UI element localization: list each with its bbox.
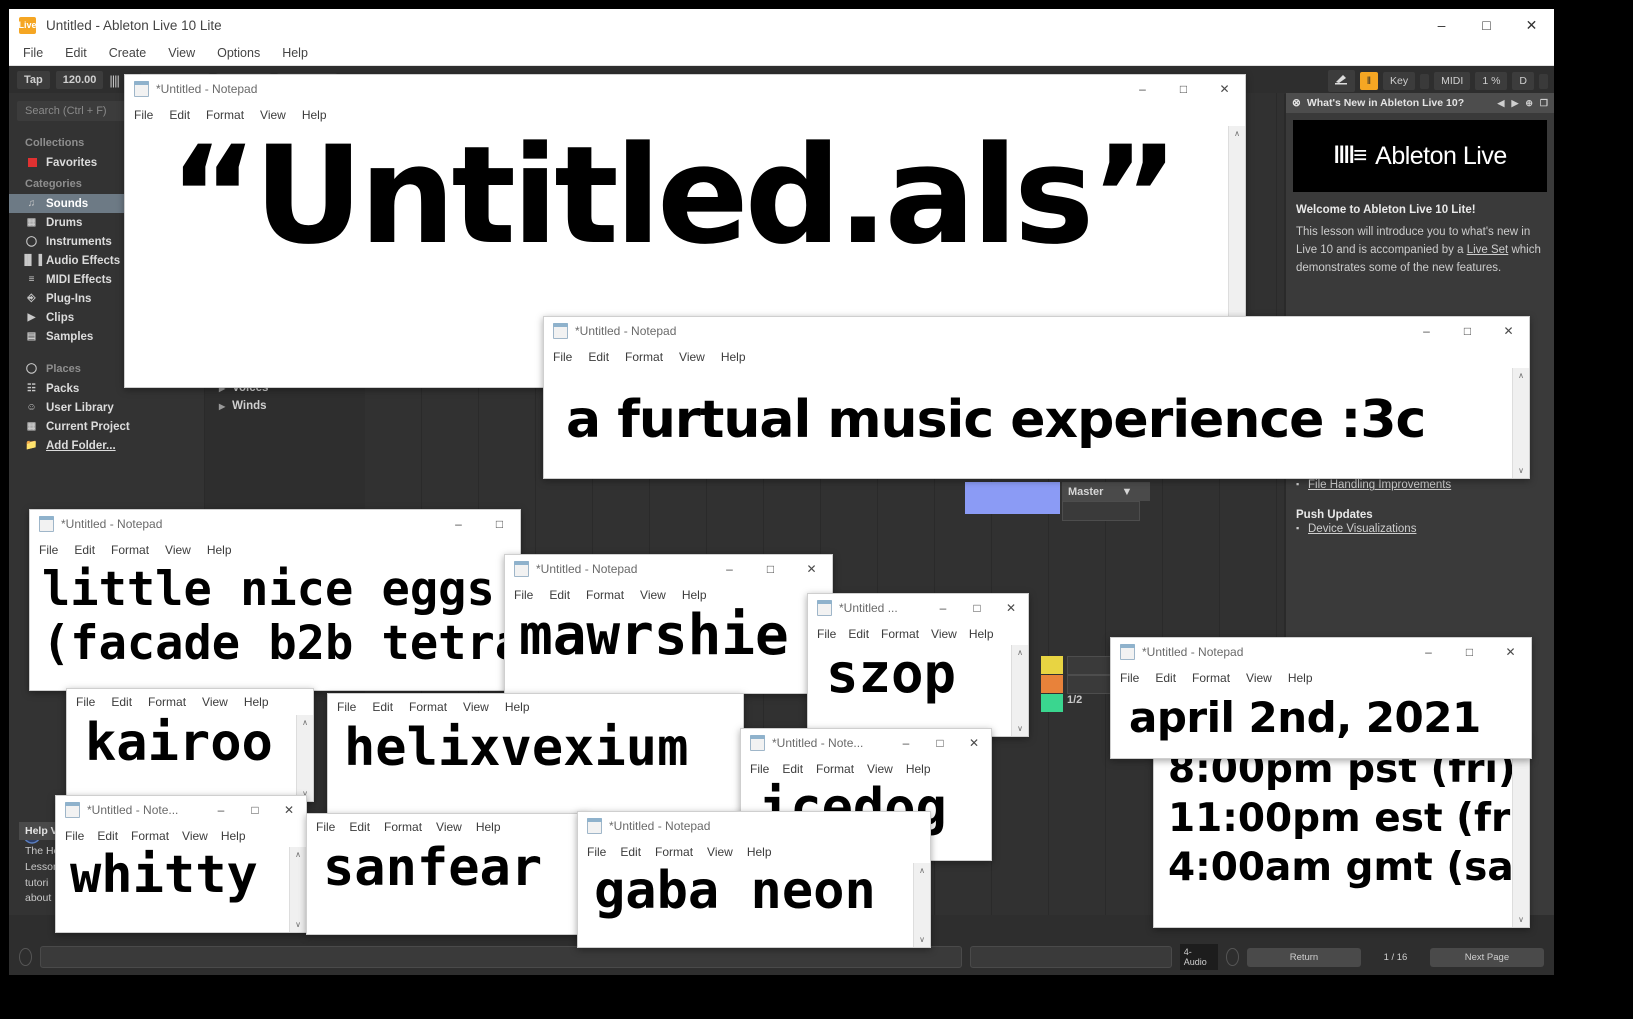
notepad-minimize-button[interactable]: –: [1122, 75, 1163, 103]
notepad-menu-file[interactable]: File: [65, 829, 84, 843]
notepad-maximize-button[interactable]: □: [923, 729, 957, 757]
sample-icon: ▤: [25, 330, 38, 343]
mixer-fraction: 1/2: [1067, 694, 1082, 706]
notepad-menu-view[interactable]: View: [707, 845, 733, 859]
track-color-swatch-yellow[interactable]: [1041, 656, 1063, 674]
notepad-menu-format[interactable]: Format: [655, 845, 693, 859]
scroll-up-arrow-icon[interactable]: ∧: [1229, 126, 1245, 141]
browser-item-label: Samples: [46, 331, 93, 343]
ableton-titlebar: Live Untitled - Ableton Live 10 Lite – □…: [9, 9, 1554, 41]
notepad-close-button[interactable]: ✕: [1204, 75, 1245, 103]
menu-file[interactable]: File: [23, 46, 43, 60]
notepad-close-button[interactable]: ✕: [1490, 638, 1531, 666]
help-panel-paragraph: This lesson will introduce you to what's…: [1286, 216, 1554, 277]
key-button[interactable]: Key: [1383, 72, 1415, 90]
notepad-text: april 2nd, 2021: [1115, 691, 1531, 739]
notepad-icon: [750, 735, 765, 751]
scroll-down-arrow-icon[interactable]: ∨: [290, 917, 306, 932]
scroll-down-arrow-icon[interactable]: ∨: [1513, 912, 1529, 927]
notepad-menu-file[interactable]: File: [316, 820, 335, 834]
notepad-icon: [39, 516, 54, 532]
browser-item-label: Add Folder...: [46, 440, 116, 452]
scroll-up-arrow-icon[interactable]: ∧: [297, 715, 313, 730]
status-field-left[interactable]: [40, 946, 962, 968]
notepad-title: *Untitled - Notepad: [575, 324, 676, 338]
notepad-text: “Untitled.als”: [129, 128, 1245, 263]
notepad-maximize-button[interactable]: □: [1449, 638, 1490, 666]
ableton-window-title: Untitled - Ableton Live 10 Lite: [46, 18, 222, 33]
notepad-text-area[interactable]: little nice eggs (facade b2b tetra): [30, 561, 520, 690]
notepad-close-button[interactable]: ✕: [957, 729, 991, 757]
chevron-down-icon[interactable]: ▼: [1121, 486, 1132, 498]
audio-track-count: 4-Audio: [1180, 944, 1218, 970]
scroll-up-arrow-icon[interactable]: ∧: [1012, 645, 1028, 660]
notepad-titlebar: *Untitled - Note... – □ ✕: [56, 796, 306, 824]
notepad-minimize-button[interactable]: –: [889, 729, 923, 757]
favorite-square-icon: [25, 156, 38, 169]
notepad-menu-help[interactable]: Help: [302, 108, 327, 122]
browser-item-label: Clips: [46, 312, 74, 324]
session-clip-slot[interactable]: [965, 482, 1060, 514]
notepad-text-area[interactable]: april 2nd, 2021: [1111, 689, 1531, 758]
ableton-live-banner: ‖‖≡ Ableton Live: [1293, 120, 1547, 192]
notepad-menu-help[interactable]: Help: [221, 829, 246, 843]
help-paragraph-line-2-pre: Live 10 and is accompanied by a: [1296, 244, 1467, 256]
notepad-minimize-button[interactable]: –: [1406, 317, 1447, 345]
notepad-titlebar: *Untitled - Notepad – □: [30, 510, 520, 538]
notepad-icon: [553, 323, 568, 339]
scroll-down-arrow-icon[interactable]: ∨: [1513, 463, 1529, 478]
notepad-menu-help[interactable]: Help: [1288, 671, 1313, 685]
notepad-window-controls: – □ ✕: [204, 796, 306, 824]
page-indicator: 1 / 16: [1369, 952, 1422, 963]
notepad-text-area[interactable]: 8:00pm pst (fri) 11:00pm est (fri) 4:00a…: [1154, 734, 1529, 927]
menu-options[interactable]: Options: [217, 46, 260, 60]
ableton-close-button[interactable]: ✕: [1509, 9, 1554, 41]
notepad-window-controls: – □ ✕: [889, 729, 991, 757]
notepad-menu-edit[interactable]: Edit: [372, 700, 393, 714]
notepad-title: *Untitled - Notepad: [156, 82, 257, 96]
clock-icon: ◯: [25, 235, 38, 248]
notepad-icon: [587, 818, 602, 834]
notepad-window-controls: – □ ✕: [1406, 317, 1529, 345]
notepad-title: *Untitled - Notepad: [609, 819, 710, 833]
help-panel-titlebar: ⊗ What's New in Ableton Live 10? ◀ ▶ ⊕ ❐: [1286, 93, 1554, 113]
notepad-menu-help[interactable]: Help: [721, 350, 746, 364]
notepad-text-area[interactable]: sanfear: [307, 840, 587, 934]
notepad-titlebar: *Untitled - Notepad – □ ✕: [1111, 638, 1531, 666]
master-track-label: Master: [1068, 486, 1103, 498]
waveform-icon: ▐▌▐: [25, 254, 38, 267]
notepad-menu-file[interactable]: File: [337, 700, 356, 714]
notepad-title: *Untitled - Note...: [772, 736, 863, 750]
ableton-maximize-button[interactable]: □: [1464, 9, 1509, 41]
cpu-meter: 1 %: [1475, 72, 1507, 90]
notepad-menu-file[interactable]: File: [750, 762, 769, 776]
notepad-menu-format[interactable]: Format: [816, 762, 854, 776]
midi-button[interactable]: MIDI: [1434, 72, 1470, 90]
browser-item-label: Current Project: [46, 421, 130, 433]
notepad-menubar: File Edit Format View Help: [30, 538, 520, 561]
ableton-app-icon: Live: [19, 17, 36, 34]
lines-icon: ≡: [25, 273, 38, 286]
notepad-menu-view[interactable]: View: [679, 350, 705, 364]
notepad-titlebar: *Untitled - Note... – □ ✕: [741, 729, 991, 757]
notepad-maximize-button[interactable]: □: [960, 594, 994, 622]
tap-tempo-button[interactable]: Tap: [17, 71, 50, 89]
notepad-scrollbar[interactable]: ∧ ∨: [1512, 734, 1529, 927]
notepad-window-mawrshie[interactable]: *Untitled - Notepad – □ ✕ File Edit Form…: [504, 554, 833, 694]
browser-item-label: MIDI Effects: [46, 274, 112, 286]
notepad-minimize-button[interactable]: –: [1408, 638, 1449, 666]
notepad-text-area[interactable]: helixvexium: [328, 720, 743, 814]
notepad-window-furtual[interactable]: *Untitled - Notepad – □ ✕ File Edit Form…: [543, 316, 1530, 479]
notepad-maximize-button[interactable]: □: [750, 555, 791, 583]
notepad-menu-view[interactable]: View: [182, 829, 208, 843]
notepad-titlebar: *Untitled - Notepad: [578, 812, 930, 840]
browser-item-label: Audio Effects: [46, 255, 120, 267]
draw-mode-icon[interactable]: [1328, 70, 1355, 92]
ableton-minimize-button[interactable]: –: [1419, 9, 1464, 41]
plug-icon: ⎆: [25, 292, 38, 305]
notepad-maximize-button[interactable]: □: [1163, 75, 1204, 103]
browser-item-user-library[interactable]: ☺ User Library: [9, 398, 204, 417]
notepad-menu-view[interactable]: View: [640, 588, 666, 602]
notepad-scrollbar[interactable]: ∧ ∨: [1512, 368, 1529, 478]
notepad-text: gaba neon: [582, 865, 930, 917]
status-knob-right[interactable]: [1226, 948, 1239, 966]
notepad-menu-file[interactable]: File: [134, 108, 153, 122]
help-link-label: Device Visualizations: [1308, 523, 1416, 535]
grid-icon: ▦: [25, 216, 38, 229]
notepad-menu-help[interactable]: Help: [207, 543, 232, 557]
notepad-menu-help[interactable]: Help: [682, 588, 707, 602]
notepad-menu-view[interactable]: View: [867, 762, 893, 776]
notepad-menubar: File Edit Format View Help: [544, 345, 1529, 368]
help-panel-book-icon[interactable]: ❐: [1540, 98, 1548, 109]
notepad-menu-file[interactable]: File: [817, 627, 836, 641]
menu-help[interactable]: Help: [282, 46, 308, 60]
scroll-down-arrow-icon[interactable]: ∨: [914, 932, 930, 947]
notepad-menu-format[interactable]: Format: [148, 695, 186, 709]
tree-item-label: Winds: [232, 400, 266, 412]
notepad-menubar: File Edit Format View Help: [1111, 666, 1531, 689]
notepad-icon: [1120, 644, 1135, 660]
notepad-menu-view[interactable]: View: [436, 820, 462, 834]
help-panel-title: What's New in Ableton Live 10?: [1307, 97, 1464, 109]
help-panel-prev-icon[interactable]: ◀: [1498, 98, 1505, 109]
push-updates-heading: Push Updates: [1286, 493, 1554, 521]
menu-edit[interactable]: Edit: [65, 46, 87, 60]
notepad-window-kairoo[interactable]: File Edit Format View Help kairoo ∧ ∨: [66, 688, 314, 802]
notepad-title: *Untitled - Notepad: [61, 517, 162, 531]
notepad-window-szop[interactable]: *Untitled ... – □ ✕ File Edit Format Vie…: [807, 593, 1029, 737]
help-link-label: File Handling Improvements: [1308, 479, 1451, 491]
menu-create[interactable]: Create: [109, 46, 147, 60]
help-paragraph-line-3: demonstrates some of the new features.: [1296, 262, 1501, 274]
notepad-title: *Untitled ...: [839, 601, 898, 615]
notepad-close-button[interactable]: ✕: [272, 796, 306, 824]
play-box-icon: ▶: [25, 311, 38, 324]
notepad-icon: [514, 561, 529, 577]
toolbar-gap-2: [1539, 74, 1548, 89]
notepad-window-sanfear[interactable]: File Edit Format View Help sanfear: [306, 813, 588, 935]
notepad-menu-view[interactable]: View: [1246, 671, 1272, 685]
notepad-titlebar: *Untitled - Notepad – □ ✕: [505, 555, 832, 583]
tempo-value[interactable]: 120.00: [56, 71, 104, 89]
notepad-scrollbar[interactable]: ∧ ∨: [1011, 645, 1028, 736]
status-field-right[interactable]: [970, 946, 1172, 968]
notepad-menu-edit[interactable]: Edit: [549, 588, 570, 602]
disk-overload-indicator: D: [1512, 72, 1534, 90]
notepad-menubar: File Edit Format View Help: [328, 694, 743, 720]
scroll-up-arrow-icon[interactable]: ∧: [1513, 368, 1529, 383]
notepad-menu-format[interactable]: Format: [1192, 671, 1230, 685]
notepad-menu-format[interactable]: Format: [131, 829, 169, 843]
master-track-header[interactable]: Master ▼: [1062, 482, 1150, 501]
browser-item-label: Drums: [46, 217, 82, 229]
notepad-text-area[interactable]: gaba neon: [578, 863, 930, 947]
notepad-close-button[interactable]: ✕: [791, 555, 832, 583]
scroll-up-arrow-icon[interactable]: ∧: [290, 847, 306, 862]
menu-view[interactable]: View: [168, 46, 195, 60]
notepad-menu-format[interactable]: Format: [625, 350, 663, 364]
notepad-menu-edit[interactable]: Edit: [620, 845, 641, 859]
notepad-window-date[interactable]: *Untitled - Notepad – □ ✕ File Edit Form…: [1110, 637, 1532, 759]
master-volume-slot[interactable]: [1062, 501, 1140, 521]
notepad-window-controls: – □ ✕: [926, 594, 1028, 622]
browser-item-label: Plug-Ins: [46, 293, 91, 305]
notepad-maximize-button[interactable]: □: [238, 796, 272, 824]
notepad-menu-help[interactable]: Help: [505, 700, 530, 714]
track-color-swatch-green[interactable]: [1041, 694, 1063, 712]
notepad-text: 8:00pm pst (fri) 11:00pm est (fri) 4:00a…: [1158, 736, 1529, 892]
notepad-titlebar: *Untitled - Notepad – □ ✕: [544, 317, 1529, 345]
notepad-menu-view[interactable]: View: [165, 543, 191, 557]
notepad-text: whitty: [60, 849, 306, 901]
notepad-close-button[interactable]: ✕: [994, 594, 1028, 622]
notepad-minimize-button[interactable]: –: [709, 555, 750, 583]
notepad-window-controls: – □ ✕: [709, 555, 832, 583]
notepad-title: *Untitled - Notepad: [1142, 645, 1243, 659]
notepad-menu-file[interactable]: File: [587, 845, 606, 859]
notepad-window-helixvexium[interactable]: File Edit Format View Help helixvexium: [327, 693, 744, 815]
notepad-text: helixvexium: [332, 722, 743, 774]
notepad-menu-edit[interactable]: Edit: [111, 695, 132, 709]
notepad-menu-file[interactable]: File: [39, 543, 58, 557]
browser-item-label: Instruments: [46, 236, 112, 248]
notepad-menu-format[interactable]: Format: [881, 627, 919, 641]
notepad-menu-view[interactable]: View: [931, 627, 957, 641]
return-button[interactable]: Return: [1247, 948, 1361, 967]
scroll-down-arrow-icon[interactable]: ∨: [1012, 721, 1028, 736]
notepad-menu-view[interactable]: View: [463, 700, 489, 714]
help-panel-heading: Welcome to Ableton Live 10 Lite!: [1286, 192, 1554, 216]
notepad-menubar: File Edit Format View Help: [307, 814, 587, 840]
notepad-window-eggs[interactable]: *Untitled - Notepad – □ File Edit Format…: [29, 509, 521, 691]
notepad-titlebar: *Untitled - Notepad – □ ✕: [125, 75, 1245, 103]
help-panel-home-icon[interactable]: ⊕: [1525, 98, 1533, 109]
notepad-window-gaba-neon[interactable]: *Untitled - Notepad File Edit Format Vie…: [577, 811, 931, 948]
notepad-menu-file[interactable]: File: [1120, 671, 1139, 685]
notepad-menu-help[interactable]: Help: [969, 627, 994, 641]
toolbar-gap: [1420, 74, 1429, 89]
places-header: Places: [46, 363, 81, 375]
notepad-menubar: File Edit Format View Help: [125, 103, 1245, 126]
notepad-window-controls: – □ ✕: [1408, 638, 1531, 666]
help-panel-nav: ◀ ▶ ⊕ ❐: [1498, 98, 1548, 109]
notepad-menu-edit[interactable]: Edit: [97, 829, 118, 843]
notepad-menu-format[interactable]: Format: [206, 108, 244, 122]
notepad-menu-view[interactable]: View: [260, 108, 286, 122]
notepad-close-button[interactable]: ✕: [1488, 317, 1529, 345]
notepad-menu-help[interactable]: Help: [476, 820, 501, 834]
notepad-menu-help[interactable]: Help: [244, 695, 269, 709]
notepad-menu-edit[interactable]: Edit: [169, 108, 190, 122]
notepad-scrollbar[interactable]: ∧ ∨: [296, 715, 313, 801]
notepad-menu-help[interactable]: Help: [906, 762, 931, 776]
help-link-device-visualizations[interactable]: Device Visualizations: [1286, 521, 1554, 537]
notepad-text: kairoo: [71, 717, 313, 769]
notepad-menubar: File Edit Format View Help: [505, 583, 832, 606]
notepad-menu-file[interactable]: File: [514, 588, 533, 602]
browser-item-current-project[interactable]: ▦ Current Project: [9, 417, 204, 436]
places-circle-icon: ◯: [25, 362, 38, 375]
note-icon: ♫: [25, 197, 38, 210]
help-panel-close-icon[interactable]: ⊗: [1292, 97, 1301, 109]
notepad-title: *Untitled - Note...: [87, 803, 178, 817]
notepad-menubar: File Edit Format View Help: [67, 689, 313, 715]
metronome-bars-1[interactable]: ||||: [109, 73, 119, 88]
notepad-icon: [65, 802, 80, 818]
folder-icon: 📁: [25, 439, 38, 452]
notepad-titlebar: *Untitled ... – □ ✕: [808, 594, 1028, 622]
notepad-menu-help[interactable]: Help: [747, 845, 772, 859]
notepad-text-area[interactable]: szop: [808, 645, 1028, 736]
notepad-text: a furtual music experience :3c: [548, 370, 1529, 446]
notepad-menu-edit[interactable]: Edit: [782, 762, 803, 776]
notepad-menu-edit[interactable]: Edit: [349, 820, 370, 834]
notepad-menu-edit[interactable]: Edit: [74, 543, 95, 557]
notepad-menu-edit[interactable]: Edit: [1155, 671, 1176, 685]
notepad-scrollbar[interactable]: ∧ ∨: [913, 863, 930, 947]
user-icon: ☺: [25, 401, 38, 414]
notepad-text-area[interactable]: kairoo: [67, 715, 313, 801]
notepad-menu-file[interactable]: File: [553, 350, 572, 364]
notepad-menubar: File Edit Format View Help: [808, 622, 1028, 645]
toolbar-right-group: ‖ Key MIDI 1 % D: [1328, 70, 1548, 92]
ableton-bars-logo-icon: ‖‖≡: [1333, 142, 1365, 170]
notepad-text-area[interactable]: mawrshie: [505, 606, 832, 693]
notepad-maximize-button[interactable]: □: [1447, 317, 1488, 345]
notepad-window-controls: – □: [438, 510, 520, 538]
ableton-menubar: File Edit Create View Options Help: [9, 41, 1554, 66]
browser-item-label: Favorites: [46, 157, 97, 169]
notepad-window-times[interactable]: 8:00pm pst (fri) 11:00pm est (fri) 4:00a…: [1153, 733, 1530, 928]
ableton-wordmark: Ableton Live: [1375, 142, 1507, 171]
key-map-toggle[interactable]: ‖: [1360, 72, 1378, 90]
notepad-menu-view[interactable]: View: [202, 695, 228, 709]
notepad-menu-format[interactable]: Format: [586, 588, 624, 602]
notepad-minimize-button[interactable]: –: [204, 796, 238, 824]
notepad-text-area[interactable]: a furtual music experience :3c: [544, 368, 1529, 478]
chevron-right-icon: ▶: [219, 402, 225, 411]
notepad-icon: [817, 600, 832, 616]
notepad-menu-format[interactable]: Format: [384, 820, 422, 834]
notepad-text: little nice eggs (facade b2b tetra): [34, 563, 520, 671]
help-paragraph-line-2-post: which: [1508, 244, 1541, 256]
notepad-text: szop: [812, 647, 1028, 701]
next-page-button[interactable]: Next Page: [1430, 948, 1544, 967]
browser-item-add-folder[interactable]: 📁 Add Folder...: [9, 436, 204, 455]
notepad-text: sanfear: [311, 842, 587, 894]
notepad-icon: [134, 81, 149, 97]
notepad-minimize-button[interactable]: –: [438, 510, 479, 538]
notepad-text: mawrshie: [509, 608, 832, 664]
notepad-window-whitty[interactable]: *Untitled - Note... – □ ✕ File Edit Form…: [55, 795, 307, 933]
track-color-swatch-orange[interactable]: [1041, 675, 1063, 693]
notepad-title: *Untitled - Notepad: [536, 562, 637, 576]
notepad-scrollbar[interactable]: ∧ ∨: [289, 847, 306, 932]
ableton-window-controls: – □ ✕: [1419, 9, 1554, 41]
notepad-text-area[interactable]: whitty: [56, 847, 306, 932]
notepad-menu-file[interactable]: File: [76, 695, 95, 709]
browser-item-label: Packs: [46, 383, 79, 395]
notepad-menubar: File Edit Format View Help: [578, 840, 930, 863]
packs-icon: ☷: [25, 382, 38, 395]
live-set-link[interactable]: Live Set: [1467, 244, 1509, 256]
help-panel-next-icon[interactable]: ▶: [1511, 98, 1518, 109]
notepad-menu-edit[interactable]: Edit: [588, 350, 609, 364]
notepad-menubar: File Edit Format View Help: [56, 824, 306, 847]
status-knob-left[interactable]: [19, 948, 32, 966]
notepad-maximize-button[interactable]: □: [479, 510, 520, 538]
notepad-menu-format[interactable]: Format: [409, 700, 447, 714]
help-link-file-handling[interactable]: File Handling Improvements: [1286, 477, 1554, 493]
notepad-menubar: File Edit Format View Help: [741, 757, 991, 780]
notepad-menu-edit[interactable]: Edit: [848, 627, 869, 641]
browser-item-label: Sounds: [46, 198, 88, 210]
notepad-window-controls: – □ ✕: [1122, 75, 1245, 103]
scroll-up-arrow-icon[interactable]: ∧: [914, 863, 930, 878]
notepad-minimize-button[interactable]: –: [926, 594, 960, 622]
browser-item-label: User Library: [46, 402, 114, 414]
project-icon: ▦: [25, 420, 38, 433]
notepad-menu-format[interactable]: Format: [111, 543, 149, 557]
help-paragraph-line-1: This lesson will introduce you to what's…: [1296, 226, 1530, 238]
